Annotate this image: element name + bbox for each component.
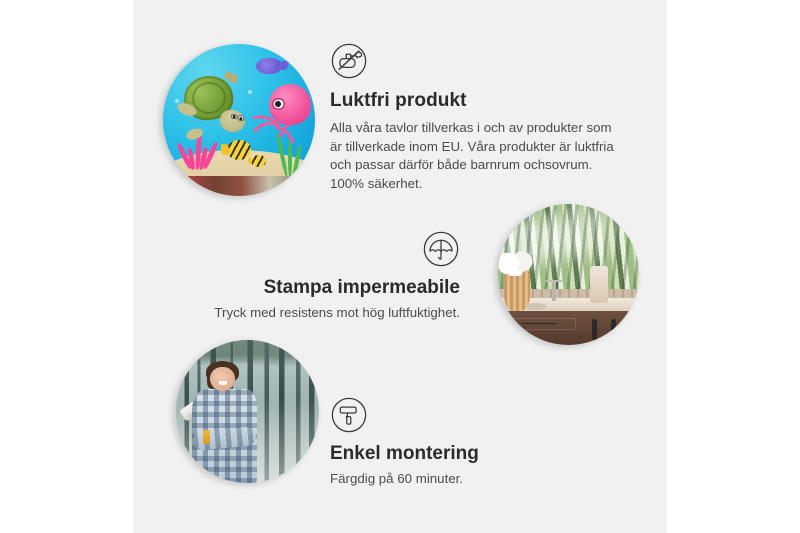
- tool-grip: [203, 430, 210, 444]
- feature-easy-mounting: Enkel montering Färgdig på 60 minuter.: [330, 396, 610, 489]
- bathroom-botanical-wallpaper-circle-photo: [498, 204, 639, 345]
- feature-odour-free: Luktfri produkt Alla våra tavlor tillver…: [330, 42, 626, 193]
- faucet-icon: [552, 282, 556, 302]
- feature-description: Färgdig på 60 minuter.: [330, 470, 610, 489]
- promo-graphic: Luktfri produkt Alla våra tavlor tillver…: [0, 0, 800, 533]
- pink-octopus-icon: [248, 84, 312, 151]
- no-odour-spray-bottle-icon: [330, 42, 368, 80]
- umbrella-icon: [422, 230, 460, 268]
- paint-roller-icon: [330, 396, 368, 434]
- wooden-vanity-cabinet: [498, 311, 639, 345]
- feature-title: Stampa impermeabile: [186, 276, 460, 300]
- bubble-icon: [175, 99, 179, 103]
- sea-turtle-icon: [180, 76, 247, 137]
- white-flowers: [498, 251, 535, 276]
- soap-dish: [526, 303, 546, 310]
- pink-coral: [177, 132, 223, 178]
- sea-floor-band: [163, 176, 315, 196]
- feature-waterproof-print: Stampa impermeabile Tryck med resistens …: [186, 230, 460, 323]
- blue-fish-icon: [256, 58, 282, 75]
- feature-title: Enkel montering: [330, 442, 610, 466]
- woman-paint-roller-forest-circle-photo: [176, 340, 319, 483]
- feature-description: Alla våra tavlor tillverkas i och av pro…: [330, 119, 626, 193]
- soap-bottle: [590, 266, 608, 303]
- feature-title: Luktfri produkt: [330, 89, 626, 113]
- underwater-cartoon-circle-photo: [163, 44, 315, 196]
- feature-description: Tryck med resistens mot hög luftfuktighe…: [186, 304, 460, 323]
- yellow-fish-icon: [227, 140, 251, 160]
